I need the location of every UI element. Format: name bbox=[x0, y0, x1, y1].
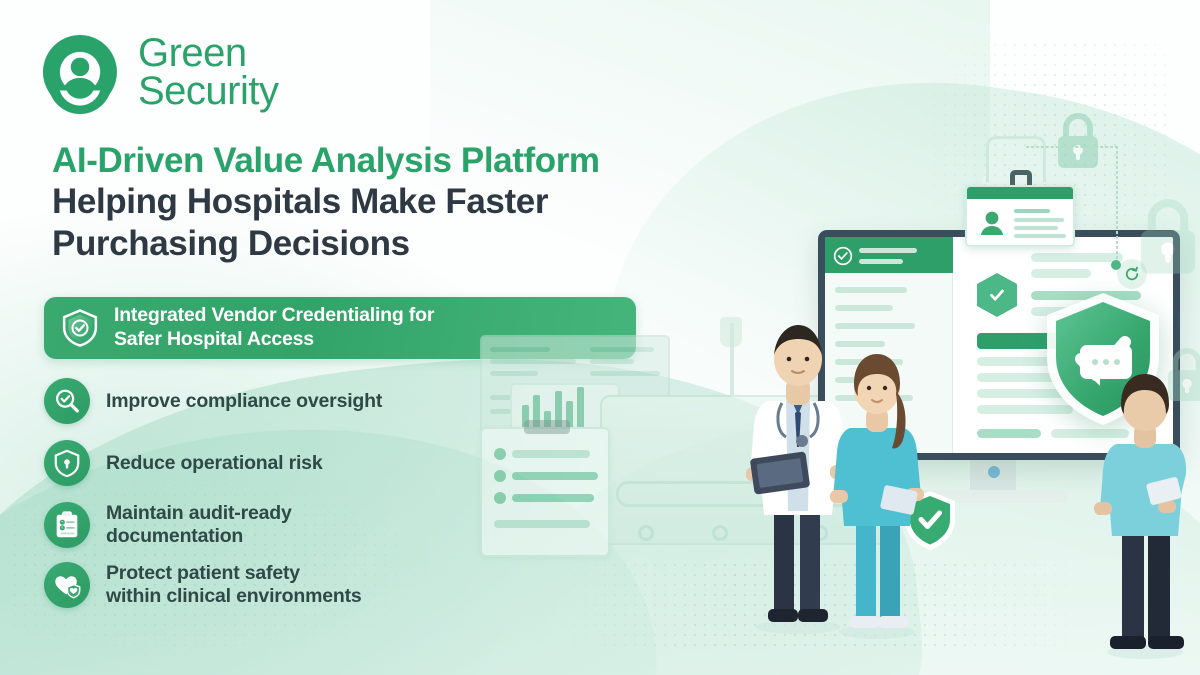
bullet-icon-wrapper bbox=[44, 502, 90, 548]
badge-avatar-icon bbox=[979, 209, 1005, 237]
bullet-line-1: Improve compliance oversight bbox=[106, 390, 382, 413]
bullet-text: Improve compliance oversight bbox=[106, 390, 382, 413]
banner-line-2: Safer Hospital Access bbox=[114, 328, 434, 352]
banner-text: Integrated Vendor Credentialing for Safe… bbox=[114, 304, 434, 352]
dashboard-logo-icon bbox=[833, 246, 853, 266]
bullet-line-2: documentation bbox=[106, 525, 292, 548]
bullet-icon-wrapper bbox=[44, 440, 90, 486]
magnifier-check-icon bbox=[52, 386, 82, 416]
bullet-text: Protect patient safety within clinical e… bbox=[106, 562, 362, 608]
bullet-text: Maintain audit-ready documentation bbox=[106, 502, 292, 548]
connector-line bbox=[1116, 146, 1118, 264]
nurse-figure bbox=[822, 340, 932, 640]
bed-wheel bbox=[638, 525, 654, 541]
bullet-icon-wrapper bbox=[44, 378, 90, 424]
banner-line-1: Integrated Vendor Credentialing for bbox=[114, 304, 434, 328]
clipboard-checklist bbox=[480, 427, 610, 557]
clipboard-checklist-icon bbox=[52, 510, 82, 540]
bullet-line-1: Protect patient safety bbox=[106, 562, 362, 585]
hospital-credentialing-illustration bbox=[470, 90, 1200, 675]
bullet-line-1: Reduce operational risk bbox=[106, 452, 322, 475]
bullet-text: Reduce operational risk bbox=[106, 452, 322, 475]
badge-header-strip bbox=[967, 187, 1073, 199]
brand-name-line1: Green bbox=[138, 34, 279, 72]
brand-logo[interactable]: Green Security bbox=[38, 30, 279, 114]
verified-hex-badge bbox=[977, 273, 1017, 317]
brand-name-line2: Security bbox=[138, 72, 279, 110]
person-in-ring-icon bbox=[38, 30, 122, 114]
heart-shield-icon bbox=[52, 570, 82, 600]
shield-check-icon bbox=[60, 308, 100, 348]
dashboard-header-bar bbox=[825, 237, 953, 273]
visitor-figure bbox=[1090, 360, 1200, 660]
connector-line bbox=[1026, 146, 1118, 148]
iv-pole bbox=[730, 323, 734, 403]
connector-endpoint bbox=[1111, 260, 1121, 270]
brand-wordmark: Green Security bbox=[138, 34, 279, 111]
padlock-icon bbox=[1050, 110, 1106, 172]
id-badge-card bbox=[965, 185, 1075, 247]
promotional-banner: Green Security AI-Driven Value Analysis … bbox=[0, 0, 1200, 675]
padlock-icon bbox=[1130, 195, 1200, 279]
bullet-icon-wrapper bbox=[44, 562, 90, 608]
shield-lock-icon bbox=[52, 448, 82, 478]
bed-wheel bbox=[712, 525, 728, 541]
bullet-line-2: within clinical environments bbox=[106, 585, 362, 608]
bullet-line-1: Maintain audit-ready bbox=[106, 502, 292, 525]
monitor-power-dot bbox=[988, 466, 1000, 478]
